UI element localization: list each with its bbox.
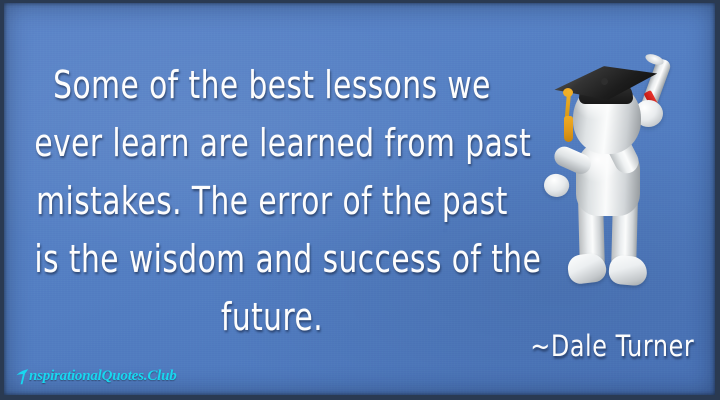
tassel-tail bbox=[564, 116, 573, 142]
watermark-label: nspirationalQuotes.Club bbox=[29, 368, 177, 385]
quote-line-4: is the wisdom and success of the bbox=[34, 230, 509, 288]
figure-left-hand bbox=[541, 171, 572, 201]
quote-poster: Some of the best lessons we ever learn a… bbox=[0, 0, 720, 400]
graduate-figure-illustration bbox=[546, 62, 704, 292]
figure-right-foot bbox=[608, 254, 648, 286]
quote-line-5: future. bbox=[34, 288, 509, 346]
quote-line-2: ever learn are learned from past bbox=[34, 114, 509, 172]
quote-line-3: mistakes. The error of the past bbox=[34, 172, 509, 230]
site-watermark[interactable]: nspirationalQuotes.Club bbox=[16, 368, 177, 385]
quote-line-1: Some of the best lessons we bbox=[34, 56, 509, 114]
quote-text: Some of the best lessons we ever learn a… bbox=[34, 56, 509, 346]
swoosh-logo-icon bbox=[16, 368, 29, 385]
quote-attribution: ~Dale Turner bbox=[530, 330, 694, 364]
